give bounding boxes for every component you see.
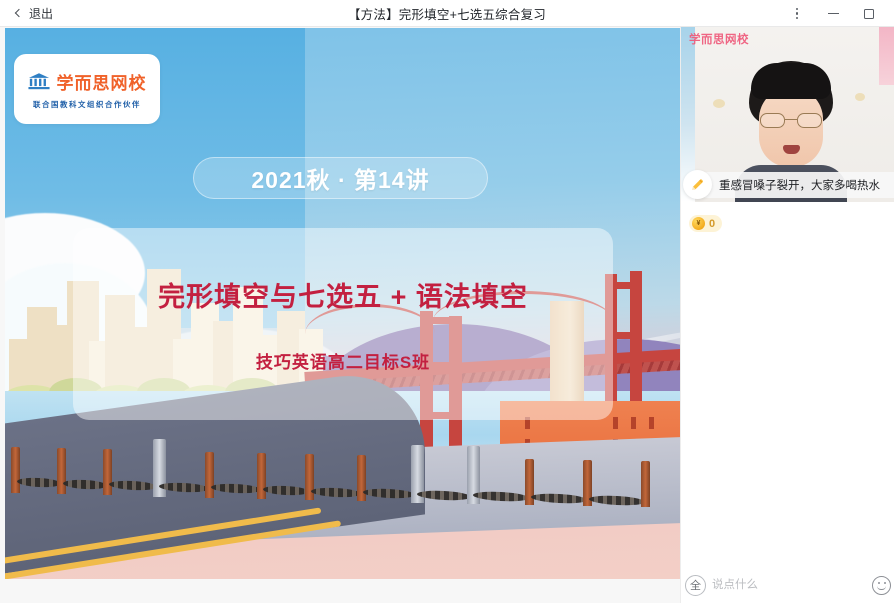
audience-scope-button[interactable]: 全 [685, 575, 706, 596]
maximize-button[interactable] [852, 1, 886, 26]
lesson-badge: 2021秋 · 第14讲 [193, 157, 488, 199]
minimize-button[interactable] [816, 1, 850, 26]
brand-name: 学而思网校 [57, 69, 147, 94]
exit-label: 退出 [29, 5, 53, 22]
fence-post [357, 455, 366, 501]
fence-post [641, 461, 650, 507]
coin-value: 0 [709, 218, 715, 230]
coin-icon: ¥ [692, 217, 705, 230]
glasses-icon [759, 113, 823, 128]
smiley-icon[interactable] [872, 576, 891, 595]
lesson-badge-text: 2021秋 · 第14讲 [251, 161, 429, 195]
more-menu-button[interactable] [780, 1, 814, 26]
coin-badge[interactable]: ¥ 0 [689, 215, 722, 232]
course-slide: 学而思网校 联合国教科文组织合作伙伴 2021秋 · 第14讲 完形填空与七选五… [5, 28, 680, 579]
fence-post [57, 448, 66, 494]
window-title: 【方法】完形填空+七选五综合复习 [0, 4, 894, 23]
fence-post [205, 452, 214, 498]
brand-subtitle: 联合国教科文组织合作伙伴 [33, 99, 141, 110]
pencil-icon [683, 170, 712, 199]
fence-post [11, 447, 20, 493]
slide-subtitle: 技巧英语高二目标S班 [256, 348, 430, 373]
window-controls [780, 0, 886, 27]
video-background-right [879, 27, 894, 85]
slide-title-card: 完形填空与七选五 + 语法填空 技巧英语高二目标S班 [73, 228, 613, 420]
title-bar: 退出 【方法】完形填空+七选五综合复习 [0, 0, 894, 27]
museum-building-icon [28, 72, 50, 91]
maximize-icon [864, 9, 874, 19]
brand-logo-card: 学而思网校 联合国教科文组织合作伙伴 [14, 54, 160, 124]
wall-decoration [855, 93, 865, 101]
exit-button[interactable]: 退出 [10, 3, 57, 24]
fence-post [103, 449, 112, 495]
coin-row: ¥ 0 [689, 215, 722, 232]
chat-panel: 学而思网校 重 [680, 27, 894, 603]
wall-decoration [713, 99, 725, 108]
chevron-left-icon [15, 9, 23, 17]
chat-input[interactable] [712, 573, 866, 597]
brand-watermark: 学而思网校 [689, 31, 749, 47]
caption-text: 重感冒嗓子裂开，大家多喝热水 [719, 177, 880, 193]
teacher-video[interactable]: 学而思网校 重 [681, 27, 894, 202]
slide-stage[interactable]: 学而思网校 联合国教科文组织合作伙伴 2021秋 · 第14讲 完形填空与七选五… [0, 27, 680, 603]
teacher-caption-bubble: 重感冒嗓子裂开，大家多喝热水 [695, 172, 894, 198]
audience-scope-label: 全 [690, 577, 701, 593]
more-vertical-icon [796, 8, 798, 20]
live-class-window: 退出 【方法】完形填空+七选五综合复习 [0, 0, 894, 603]
fence-post [257, 453, 266, 499]
chat-composer: 全 发送 [681, 567, 894, 603]
minimize-icon [828, 13, 839, 14]
message-list[interactable] [681, 239, 894, 567]
slide-title: 完形填空与七选五 + 语法填空 [158, 275, 528, 314]
